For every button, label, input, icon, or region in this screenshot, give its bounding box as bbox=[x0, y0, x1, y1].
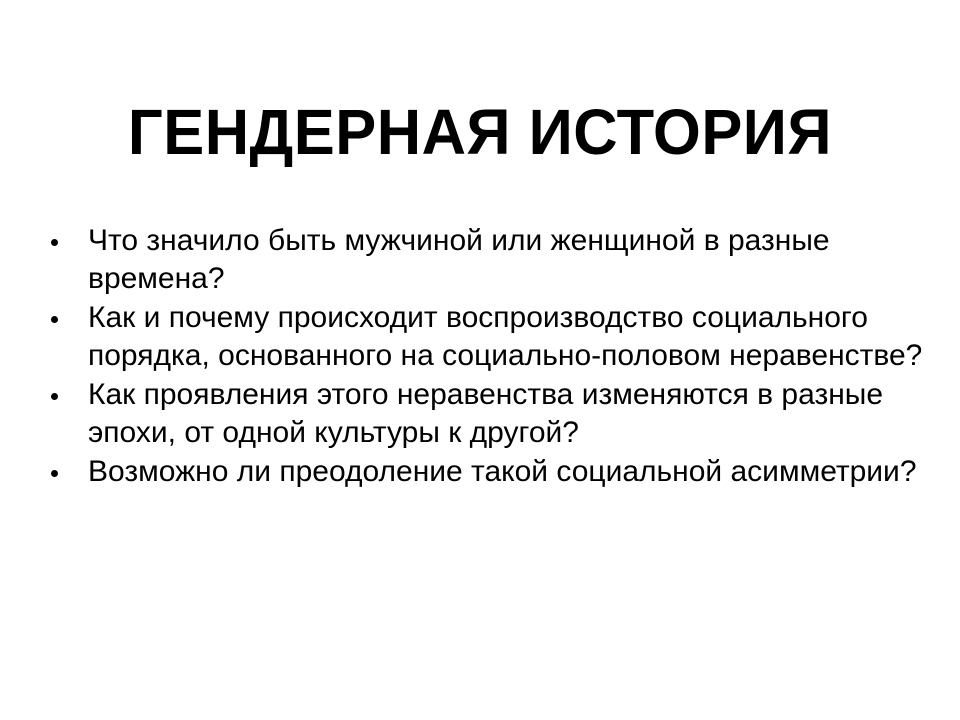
bullet-text: Как проявления этого неравенства изменяю… bbox=[88, 376, 924, 452]
presentation-slide: ГЕНДЕРНАЯ ИСТОРИЯ Что значило быть мужчи… bbox=[0, 0, 960, 720]
bullet-text: Как и почему происходит воспроизводство … bbox=[88, 299, 924, 375]
bullet-dot-icon bbox=[51, 470, 58, 477]
list-item: Как и почему происходит воспроизводство … bbox=[44, 299, 924, 375]
bullet-dot-icon bbox=[51, 239, 58, 246]
bullet-text: Возможно ли преодоление такой социальной… bbox=[88, 453, 924, 491]
slide-title: ГЕНДЕРНАЯ ИСТОРИЯ bbox=[19, 98, 941, 166]
list-item: Возможно ли преодоление такой социальной… bbox=[44, 453, 924, 491]
bullet-list: Что значило быть мужчиной или женщиной в… bbox=[44, 222, 924, 492]
list-item: Как проявления этого неравенства изменяю… bbox=[44, 376, 924, 452]
list-item: Что значило быть мужчиной или женщиной в… bbox=[44, 222, 924, 298]
bullet-dot-icon bbox=[51, 316, 58, 323]
bullet-text: Что значило быть мужчиной или женщиной в… bbox=[88, 222, 924, 298]
bullet-dot-icon bbox=[51, 393, 58, 400]
